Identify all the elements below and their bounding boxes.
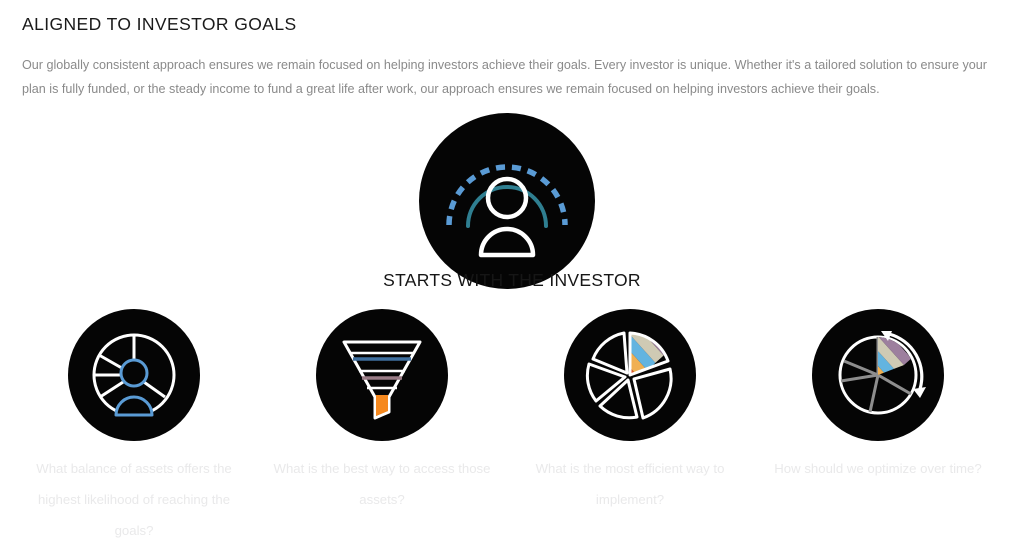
- card-caption: What is the best way to access those ass…: [271, 453, 493, 515]
- icon-disc: [316, 309, 448, 441]
- card-optimize-over-time[interactable]: How should we optimize over time?: [754, 309, 1002, 546]
- icon-disc: [68, 309, 200, 441]
- card-asset-balance[interactable]: What balance of assets offers the highes…: [10, 309, 258, 546]
- card-caption: How should we optimize over time?: [767, 453, 989, 484]
- pie-chart-refresh-icon: [812, 309, 944, 441]
- asset-allocation-wheel-icon: [68, 309, 200, 441]
- intro-paragraph: Our globally consistent approach ensures…: [22, 53, 990, 101]
- card-caption: What is the most efficient way to implem…: [519, 453, 741, 515]
- cards-row: What balance of assets offers the highes…: [0, 309, 1024, 546]
- funnel-icon: [316, 309, 448, 441]
- card-access-assets[interactable]: What is the best way to access those ass…: [258, 309, 506, 546]
- hero-label: STARTS WITH THE INVESTOR: [0, 270, 1024, 291]
- card-implementation[interactable]: What is the most efficient way to implem…: [506, 309, 754, 546]
- page-title: ALIGNED TO INVESTOR GOALS: [22, 14, 297, 35]
- hero-icon-container: [419, 113, 595, 289]
- exploded-pie-chart-icon: [564, 309, 696, 441]
- page-root: ALIGNED TO INVESTOR GOALS Our globally c…: [0, 0, 1024, 518]
- icon-disc: [564, 309, 696, 441]
- investor-signal-icon: [419, 113, 595, 289]
- icon-disc: [812, 309, 944, 441]
- card-caption: What balance of assets offers the highes…: [23, 453, 245, 546]
